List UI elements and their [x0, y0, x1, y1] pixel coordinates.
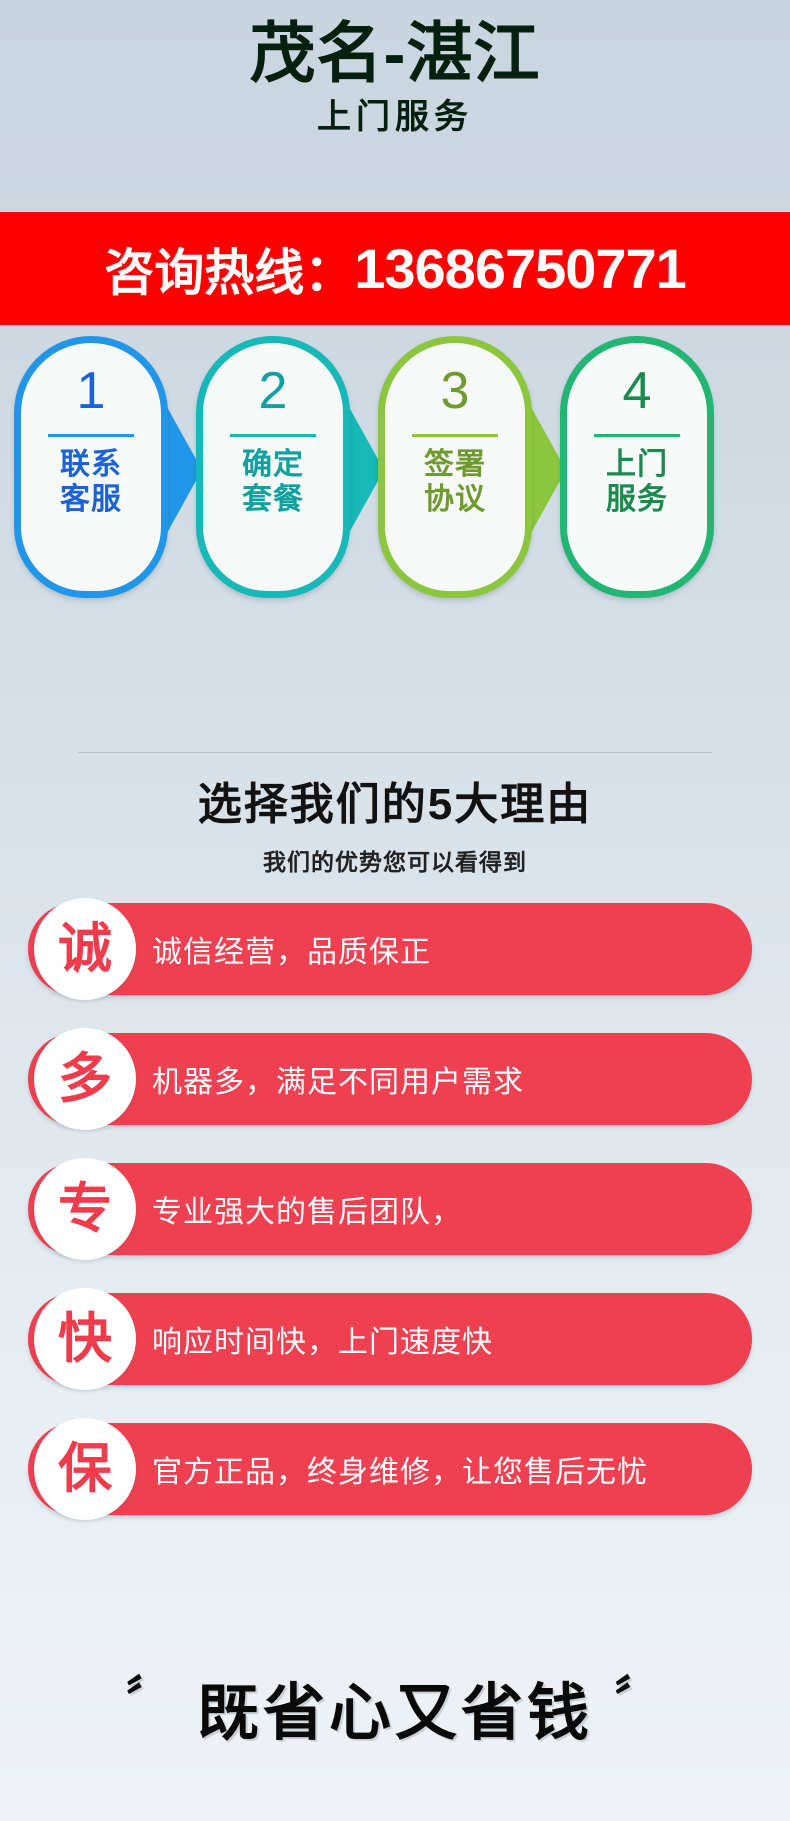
process-steps: 1 联系 客服 2 确定 套餐 [0, 336, 790, 626]
list-item: 保 官方正品，终身维修，让您售后无忧 [0, 1423, 790, 1515]
step-1-label: 联系 客服 [60, 447, 122, 518]
step-4-label-line1: 上门 [606, 447, 668, 482]
step-3-pill: 3 签署 协议 [378, 336, 532, 598]
reason-4-text: 响应时间快，上门速度快 [152, 1293, 493, 1385]
reason-2-badge: 多 [34, 1028, 136, 1130]
quote-close-icon: 〞 [614, 1672, 664, 1724]
reason-5-badge: 保 [34, 1418, 136, 1520]
step-1: 1 联系 客服 [14, 336, 168, 598]
step-3-label: 签署 协议 [424, 447, 486, 518]
quote-open-icon: 〞 [126, 1672, 176, 1724]
step-2-rule [230, 434, 316, 437]
step-4-label: 上门 服务 [606, 447, 668, 518]
page-subtitle: 上门服务 [0, 99, 790, 136]
step-2-label: 确定 套餐 [242, 447, 304, 518]
step-4-number: 4 [623, 365, 652, 417]
reason-3-text: 专业强大的售后团队， [152, 1163, 462, 1255]
hotline-bar: 咨询热线：13686750771 [0, 212, 790, 325]
step-2-label-line2: 套餐 [242, 482, 304, 517]
step-2-pill: 2 确定 套餐 [196, 336, 350, 598]
footer-slogan: 〞 既省心又省钱 〞 [0, 1662, 790, 1752]
reason-2-text: 机器多，满足不同用户需求 [152, 1033, 524, 1125]
step-1-label-line1: 联系 [60, 447, 122, 482]
step-2-label-line1: 确定 [242, 447, 304, 482]
step-4-label-line2: 服务 [606, 482, 668, 517]
advertisement-page: 茂名-湛江 上门服务 咨询热线：13686750771 1 联系 客服 [0, 0, 790, 1821]
reason-5-text: 官方正品，终身维修，让您售后无忧 [152, 1423, 648, 1515]
step-1-rule [48, 434, 134, 437]
reasons-list: 诚 诚信经营，品质保正 多 机器多，满足不同用户需求 专 专业强大的售后团队， … [0, 903, 790, 1553]
step-4: 4 上门 服务 [560, 336, 714, 598]
step-3-number: 3 [441, 365, 470, 417]
reason-4-badge: 快 [34, 1288, 136, 1390]
section-title: 选择我们的5大理由 [0, 768, 790, 832]
reason-3-badge-char: 专 [58, 1182, 112, 1236]
page-title: 茂名-湛江 [0, 18, 790, 89]
step-1-pill: 1 联系 客服 [14, 336, 168, 598]
step-3-label-line2: 协议 [424, 482, 486, 517]
reason-1-badge: 诚 [34, 898, 136, 1000]
step-2-number: 2 [259, 365, 288, 417]
list-item: 快 响应时间快，上门速度快 [0, 1293, 790, 1385]
step-4-pill: 4 上门 服务 [560, 336, 714, 598]
reason-2-badge-char: 多 [58, 1052, 112, 1106]
reason-1-badge-char: 诚 [58, 922, 112, 976]
section-divider [78, 752, 712, 753]
reason-3-badge: 专 [34, 1158, 136, 1260]
step-1-number: 1 [77, 365, 106, 417]
list-item: 诚 诚信经营，品质保正 [0, 903, 790, 995]
reason-4-badge-char: 快 [58, 1312, 112, 1366]
reason-5-badge-char: 保 [58, 1442, 112, 1496]
step-2: 2 确定 套餐 [196, 336, 350, 598]
section-subtitle: 我们的优势您可以看得到 [0, 843, 790, 877]
hotline-label: 咨询热线： [104, 233, 354, 305]
step-1-label-line2: 客服 [60, 482, 122, 517]
hotline-phone-number[interactable]: 13686750771 [354, 236, 686, 301]
step-3: 3 签署 协议 [378, 336, 532, 598]
header: 茂名-湛江 上门服务 [0, 0, 790, 137]
footer-slogan-text: 既省心又省钱 [197, 1679, 593, 1748]
step-4-rule [594, 434, 680, 437]
reason-1-text: 诚信经营，品质保正 [152, 903, 431, 995]
step-3-rule [412, 434, 498, 437]
list-item: 多 机器多，满足不同用户需求 [0, 1033, 790, 1125]
step-3-label-line1: 签署 [424, 447, 486, 482]
list-item: 专 专业强大的售后团队， [0, 1163, 790, 1255]
